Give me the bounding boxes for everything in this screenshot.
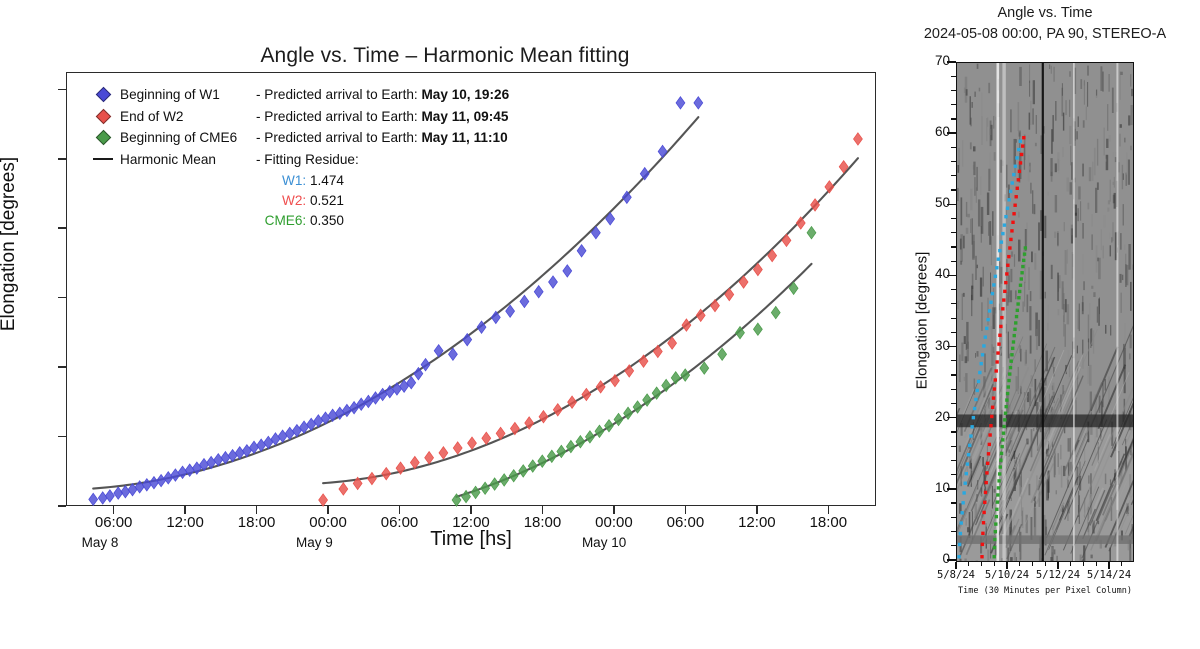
jmap-noise [1009,449,1010,452]
jmap-track-dot [989,424,992,427]
jmap-title-line2: 2024-05-08 00:00, PA 90, STEREO-A [890,26,1200,42]
jmap-noise [1026,515,1028,534]
y-tick-mark [58,158,66,160]
jmap-noise [1132,264,1133,269]
jmap-noise [1112,88,1114,113]
jmap-track-dot [961,501,964,504]
jmap-noise [1120,274,1122,283]
x-tick-mark [470,506,472,514]
jmap-track-dot [996,493,999,496]
jmap-track-dot [981,543,984,546]
jmap-track-dot [1003,223,1006,226]
jmap-noise [1088,315,1090,343]
data-point-marker [367,472,376,484]
jmap-noise [1105,474,1107,485]
jmap-track-dot [967,453,970,456]
jmap-noise [981,226,982,243]
data-point-marker [681,369,690,381]
jmap-noise [1050,158,1052,176]
x-tick-label: 06:00 [650,514,720,531]
data-point-marker [534,286,543,298]
jmap-noise [1061,445,1062,460]
data-point-marker [506,305,515,317]
jmap-noise [964,88,966,93]
jmap-noise [1063,315,1065,336]
jmap-noise [1096,245,1098,272]
jmap-noise [1029,81,1030,97]
jmap-noise [1052,383,1054,391]
jmap-noise [1091,214,1093,227]
jmap-track-dot [1001,232,1004,235]
jmap-noise [964,559,966,562]
x-tick-mark [756,506,758,514]
jmap-track-dot [1021,265,1024,268]
jmap-noise [1070,71,1071,77]
data-point-marker [563,265,572,277]
residue-series-name: W2: [282,193,310,208]
jmap-noise [1055,195,1057,213]
x-axis-title: Time [hs] [66,528,876,551]
jmap-noise [994,152,996,161]
jmap-noise [977,64,979,69]
jmap-noise [988,222,989,236]
jmap-y-axis-title: Elongation [degrees] [914,71,931,571]
jmap-noise [1106,155,1109,170]
data-point-marker [471,486,480,498]
jmap-noise [993,116,994,129]
jmap-noise [1048,305,1049,331]
fitting-residue-row: W2: 0.521 [86,190,509,210]
data-point-marker [520,295,529,307]
jmap-x-minor-tick [1096,562,1097,566]
jmap-noise [1008,275,1009,302]
data-point-marker [453,442,462,454]
data-point-marker [796,217,805,229]
jmap-track-dot [982,521,985,524]
x-tick-mark [113,506,115,514]
jmap-noise [964,336,966,344]
jmap-noise [1082,223,1083,239]
jmap-noise [1077,208,1079,221]
y-tick-mark [58,89,66,91]
jmap-noise [1086,107,1087,121]
jmap-noise [1092,234,1093,250]
jmap-noise [988,83,990,93]
data-point-marker [653,345,662,357]
jmap-noise [1109,233,1110,239]
jmap-noise [1038,222,1040,250]
data-point-marker [481,482,490,494]
jmap-noise [1128,115,1130,125]
jmap-noise [1031,252,1033,263]
legend: Beginning of W1- Predicted arrival to Ea… [86,84,509,230]
x-tick-label: 18:00 [222,514,292,531]
jmap-noise [1016,376,1018,391]
jmap-noise [988,169,990,191]
x-tick-mark [542,506,544,514]
jmap-noise [1083,120,1085,127]
jmap-noise [1065,100,1067,115]
legend-item: Beginning of W1- Predicted arrival to Ea… [86,84,509,106]
jmap-noise [1018,102,1020,131]
jmap-noise [1060,275,1061,288]
jmap-noise [1126,265,1128,285]
jmap-noise [1082,296,1083,311]
y-tick-mark [58,227,66,229]
jmap-noise [1062,281,1064,309]
jmap-noise [1076,131,1078,139]
jmap-noise [990,273,991,294]
data-point-marker [114,487,123,499]
x-day-label: May 10 [582,535,662,550]
jmap-noise [1014,553,1016,562]
jmap-noise [989,129,991,135]
jmap-track-dot [1006,392,1009,395]
legend-note: - Predicted arrival to Earth: May 10, 19… [256,87,509,102]
jmap-track-dot [960,521,963,524]
jmap-track-dot [989,301,992,304]
jmap-track-dot [984,491,987,494]
data-point-marker [164,472,173,484]
x-tick-label: 06:00 [365,514,435,531]
jmap-noise [960,261,962,265]
jmap-noise [1030,336,1032,354]
jmap-noise [1030,390,1031,400]
x-tick-mark [685,506,687,514]
legend-marker-line [86,158,120,160]
jmap-track-dot [974,398,977,401]
x-tick-label: 00:00 [579,514,649,531]
legend-label: Harmonic Mean [120,152,256,167]
jmap-track-dot [998,472,1001,475]
jmap-track-dot [996,500,999,503]
data-point-marker [825,181,834,193]
jmap-noise [983,267,984,287]
data-point-marker [553,404,562,416]
jmap-noise [1107,208,1109,212]
jmap-noise [1023,302,1024,312]
jmap-track-dot [1009,190,1012,193]
jmap-noise [1108,200,1110,204]
jmap-track-dot [1008,372,1011,375]
jmap-noise [989,221,991,245]
jmap-track-dot [1004,281,1007,284]
jmap-noise [1099,297,1100,314]
data-point-marker [500,474,509,486]
jmap-noise [1038,320,1040,346]
jmap-noise [963,236,964,249]
jmap-y-tick-label: 10 [910,480,950,495]
jmap-noise [1120,71,1121,99]
jmap-track-dot [995,266,998,269]
data-point-marker [640,167,649,179]
jmap-noise [1084,80,1085,105]
jmap-noise [1056,490,1057,494]
jmap-track-dot [957,555,960,558]
jmap-noise [1045,292,1046,299]
data-point-marker [753,323,762,335]
jmap-track-dot [995,515,998,518]
jmap-noise [1120,124,1122,128]
jmap-noise [1093,330,1094,353]
jmap-noise [1065,324,1066,347]
jmap-track-dot [1002,298,1005,301]
jmap-track-dot [988,309,991,312]
jmap-noise [1016,139,1017,143]
jmap-noise [965,373,967,392]
fitting-residue-entry: W2: 0.521 [120,193,344,208]
jmap-noise [1113,152,1114,157]
jmap-noise [959,446,961,452]
jmap-noise [1082,254,1084,274]
jmap-noise [1079,285,1081,290]
jmap-noise [1080,555,1082,562]
jmap-track-dot [1018,290,1021,293]
jmap-noise [1028,267,1030,290]
jmap-track-dot [986,318,989,321]
jmap-track-dot [992,283,995,286]
jmap-track-dot [1009,366,1012,369]
main-chart-panel: Angle vs. Time – Harmonic Mean fitting E… [0,0,890,600]
jmap-noise [1062,147,1064,157]
data-point-marker [528,460,537,472]
jmap-noise [981,116,982,145]
jmap-noise [1010,290,1012,302]
jmap-image [956,62,1134,562]
jmap-noise [1078,116,1079,127]
data-point-marker [807,227,816,239]
jmap-noise [1078,186,1081,199]
data-point-marker [468,437,477,449]
jmap-track-dot [1019,284,1022,287]
data-point-marker [718,348,727,360]
predicted-arrival-value: May 11, 11:10 [421,130,507,145]
jmap-track-dot [1001,307,1004,310]
legend-marker-diamond [86,89,120,100]
jmap-noise [1106,139,1108,148]
legend-label: End of W2 [120,109,256,124]
jmap-noise [1069,126,1071,144]
y-tick-mark [58,297,66,299]
jmap-noise [961,343,963,362]
jmap-x-minor-tick [1019,562,1020,566]
jmap-noise [978,199,980,226]
jmap-noise [975,353,976,358]
jmap-noise [1029,135,1030,139]
residue-value: 0.521 [310,193,344,208]
jmap-track-dot [997,479,1000,482]
jmap-noise [1110,325,1111,335]
jmap-track-dot [992,396,995,399]
jmap-track-dot [1016,302,1019,305]
jmap-noise [1010,269,1012,282]
jmap-noise [1002,558,1003,561]
jmap-noise [1034,253,1036,270]
data-point-marker [89,493,98,505]
jmap-track-dot [965,472,968,475]
y-axis-title: Elongation [degrees] [0,0,20,649]
jmap-track-dot [998,249,1001,252]
jmap-track-dot [1011,347,1014,350]
legend-line-icon [93,158,113,160]
jmap-noise [1061,466,1063,488]
jmap-noise [1011,497,1012,501]
jmap-noise [980,176,981,195]
jmap-track-dot [1014,321,1017,324]
jmap-track-dot [998,334,1001,337]
jmap-track-dot [978,371,981,374]
jmap-noise [1103,215,1105,227]
data-point-marker [596,381,605,393]
jmap-noise [972,218,974,244]
jmap-noise [1080,201,1081,221]
jmap-noise [987,117,988,127]
jmap-noise [1102,72,1103,92]
jmap-track-dot [969,434,972,437]
jmap-noise [1089,167,1092,181]
jmap-noise [1014,139,1017,165]
legend-note: - Predicted arrival to Earth: May 11, 11… [256,130,508,145]
data-point-marker [549,276,558,288]
residue-value: 1.474 [310,173,344,188]
data-point-marker [98,492,107,504]
jmap-noise [1030,291,1032,301]
jmap-noise [963,293,965,297]
data-point-marker [577,245,586,257]
jmap-noise [977,351,979,357]
jmap-noise [1006,165,1007,188]
jmap-track-dot [1007,198,1010,201]
jmap-noise [1068,438,1070,451]
data-point-marker [142,479,151,491]
fitting-residue-entry: W1: 1.474 [120,173,344,188]
jmap-noise [1122,110,1124,133]
jmap-track-dot [1007,385,1010,388]
jmap-noise [1067,249,1068,263]
jmap-track-dot [1010,359,1013,362]
jmap-noise [1057,556,1058,561]
jmap-track-dot [1024,246,1027,249]
jmap-track-dot [1012,212,1015,215]
jmap-noise [1075,129,1076,141]
jmap-data-gap [1042,63,1044,561]
jmap-track-dot [1012,340,1015,343]
jmap-noise [1082,340,1083,356]
jmap-x-tick-mark [1108,562,1109,569]
jmap-noise [987,193,989,216]
jmap-noise [1122,275,1123,280]
jmap-noise [1120,72,1123,75]
jmap-noise [1064,222,1065,231]
jmap-noise [992,211,993,236]
jmap-band [957,535,1133,544]
jmap-track-dot [1010,229,1013,232]
fitting-residue-entry: CME6: 0.350 [120,213,344,228]
jmap-noise [1104,159,1106,162]
jmap-noise [1130,282,1132,311]
jmap-noise [1128,244,1130,270]
jmap-noise [1065,299,1067,312]
jmap-track-dot [981,353,984,356]
jmap-noise [1120,293,1122,313]
jmap-noise [1130,74,1131,86]
jmap-noise [1110,180,1111,202]
jmap-noise [962,140,963,167]
jmap-noise [1075,213,1077,238]
data-point-marker [425,451,434,463]
data-point-marker [694,97,703,109]
data-point-marker [121,486,130,498]
jmap-track-dot [984,335,987,338]
jmap-noise [1105,325,1106,334]
jmap-noise [1101,229,1102,250]
jmap-track-dot [976,389,979,392]
jmap-track-dot [1012,173,1015,176]
jmap-noise [1130,353,1131,359]
jmap-track-dot [1002,431,1005,434]
jmap-noise [1036,329,1038,350]
legend-diamond-icon [95,87,111,103]
predicted-arrival-value: May 11, 09:45 [421,109,508,124]
jmap-y-tick-label: 20 [910,409,950,424]
jmap-noise [1015,290,1016,299]
jmap-x-tick-label: 5/14/24 [1079,569,1139,581]
data-point-marker [171,469,180,481]
jmap-track-dot [1003,418,1006,421]
y-tick-mark [58,436,66,438]
data-point-marker [671,372,680,384]
data-point-marker [509,470,518,482]
jmap-noise [1033,108,1034,124]
jmap-noise [1064,157,1066,170]
jmap-noise [962,294,963,320]
data-point-marker [662,379,671,391]
data-point-marker [676,97,685,109]
jmap-noise [1024,73,1026,76]
data-point-marker [157,474,166,486]
jmap-noise [1119,134,1121,147]
jmap-noise [1108,74,1109,92]
jmap-noise [1093,292,1095,297]
jmap-noise [1091,555,1093,559]
jmap-noise [972,102,973,108]
jmap-noise [965,356,968,363]
jmap-noise [1071,225,1073,236]
jmap-noise [1131,89,1133,96]
jmap-track-dot [1015,315,1018,318]
jmap-noise [1097,307,1098,323]
jmap-noise [1077,310,1079,329]
jmap-track-dot [1015,195,1018,198]
fitting-residue-row: W1: 1.474 [86,170,509,190]
jmap-track-dot [985,481,988,484]
jmap-noise [970,142,972,149]
legend-note: - Predicted arrival to Earth: May 11, 09… [256,109,508,124]
jmap-noise [1113,182,1114,185]
jmap-noise [1039,548,1040,561]
jmap-track-dot [960,511,963,514]
jmap-track-dot [994,530,997,533]
x-tick-mark [399,506,401,514]
data-point-marker [625,365,634,377]
jmap-track-dot [980,362,983,365]
jmap-noise [1034,204,1036,214]
x-tick-label: 18:00 [793,514,863,531]
jmap-noise [1057,233,1058,246]
jmap-noise [1077,467,1079,486]
jmap-noise [964,377,966,381]
jmap-noise [1054,232,1056,238]
